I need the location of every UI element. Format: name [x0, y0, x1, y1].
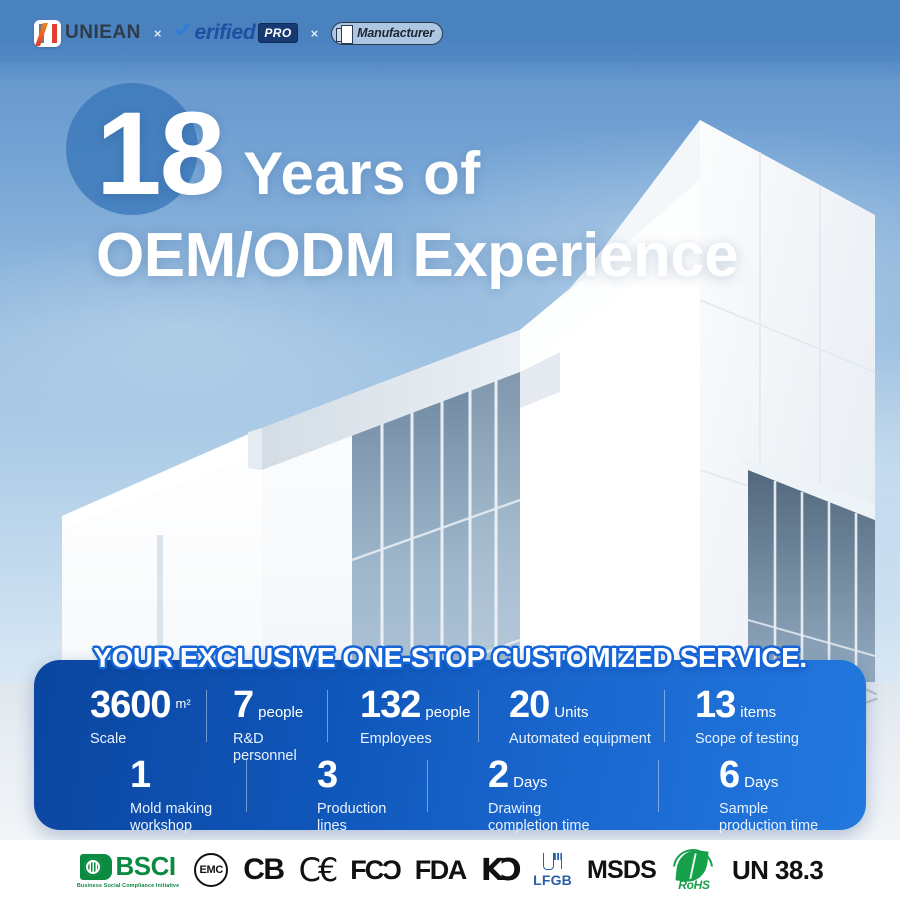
stat-value-line: 132people: [360, 686, 470, 724]
stat-cell: 20UnitsAutomated equipment: [479, 686, 664, 748]
stat-value: 7: [233, 686, 253, 724]
stat-value-line: 13items: [695, 686, 776, 724]
stat-value-line: 3: [317, 756, 337, 794]
manufacturer-badge[interactable]: Manufacturer: [331, 22, 443, 45]
stat-caption: Production lines: [317, 801, 386, 835]
stat-unit: m²: [176, 697, 191, 710]
cert-cb-label: CB: [243, 853, 283, 887]
stat-cell: 3600m²Scale: [34, 686, 206, 748]
stat-cell: 2DaysDrawing completion time: [428, 756, 658, 835]
stat-value: 20: [509, 686, 549, 724]
rohs-leaf-icon: RoHS: [671, 849, 717, 891]
stat-caption: Scope of testing: [695, 731, 799, 748]
brand-logo-unieAn[interactable]: UNIEAN: [34, 20, 141, 47]
pro-badge-label: PRO: [258, 23, 297, 43]
hero-line-2: OEM/ODM Experience: [96, 223, 856, 289]
stat-value: 2: [488, 756, 508, 794]
cert-rohs: RoHS: [671, 849, 717, 891]
stat-cell: 6DaysSample production time: [659, 756, 859, 835]
cert-msds: MSDS: [587, 856, 656, 885]
stat-value-line: 1: [130, 756, 150, 794]
cert-un383: UN 38.3: [732, 855, 823, 886]
stat-value-line: 2Days: [488, 756, 547, 794]
cert-bsci: BSCI Business Social Compliance Initiati…: [77, 851, 179, 889]
stat-caption: Scale: [90, 731, 126, 748]
stat-unit: people: [258, 705, 303, 720]
stat-caption: Employees: [360, 731, 432, 748]
stat-caption: Drawing completion time: [488, 801, 590, 835]
stat-value: 132: [360, 686, 420, 724]
cert-kc-label: KƆ: [481, 853, 518, 888]
hero-line-1: 18 Years of: [96, 97, 856, 213]
stat-cell: 7peopleR&D personnel: [207, 686, 327, 765]
stat-cell: 1Mold making workshop: [34, 756, 246, 835]
cert-bsci-label: BSCI: [115, 851, 175, 882]
stat-caption: Automated equipment: [509, 731, 651, 748]
top-band-fade: [0, 56, 900, 82]
stats-panel: 3600m²Scale7peopleR&D personnel132people…: [34, 660, 866, 830]
unieAn-logo-icon: [34, 20, 61, 47]
stat-unit: people: [425, 705, 470, 720]
panel-headline: YOUR EXCLUSIVE ONE-STOP CUSTOMIZED SERVI…: [0, 642, 900, 674]
stat-value-line: 20Units: [509, 686, 588, 724]
cert-ce-label: C€: [299, 851, 336, 889]
cert-un383-label: UN 38.3: [732, 855, 823, 886]
stat-value-line: 3600m²: [90, 686, 191, 724]
stat-value: 6: [719, 756, 739, 794]
cert-ce: C€: [299, 851, 336, 889]
stat-value: 1: [130, 756, 150, 794]
header-logo-row: UNIEAN × erified PRO × Manufacturer: [34, 14, 443, 52]
cert-fda: FDA: [415, 855, 466, 886]
stats-row-1: 3600m²Scale7peopleR&D personnel132people…: [34, 686, 866, 765]
verified-pro-badge[interactable]: erified PRO: [174, 21, 297, 45]
stat-unit: Units: [554, 705, 588, 720]
cert-kc: KƆ: [481, 853, 518, 888]
stat-value-line: 6Days: [719, 756, 778, 794]
hero-number: 18: [96, 97, 223, 213]
cert-rohs-label: RoHS: [671, 878, 717, 892]
stat-value: 3600: [90, 686, 171, 724]
cert-msds-label: MSDS: [587, 856, 656, 885]
stat-unit: Days: [744, 775, 778, 790]
stat-cell: 3Production lines: [247, 756, 427, 835]
manufacturer-label: Manufacturer: [357, 26, 434, 40]
cert-fcc: FCƆ: [350, 855, 400, 886]
cert-bsci-sub: Business Social Compliance Initiative: [77, 883, 179, 889]
stats-row-2: 1Mold making workshop3Production lines2D…: [34, 756, 866, 835]
certification-strip: BSCI Business Social Compliance Initiati…: [0, 840, 900, 900]
cert-cb: CB: [243, 853, 283, 887]
cert-fcc-label: FCƆ: [350, 855, 400, 886]
check-icon: [174, 25, 191, 42]
stat-unit: items: [740, 705, 776, 720]
stat-caption: Sample production time: [719, 801, 818, 835]
verified-label: erified: [194, 21, 255, 45]
factory-icon: [336, 25, 353, 42]
stat-caption: Mold making workshop: [130, 801, 212, 835]
stat-cell: 132peopleEmployees: [328, 686, 478, 748]
stat-value: 3: [317, 756, 337, 794]
stat-value-line: 7people: [233, 686, 303, 724]
cert-emc-label: EMC: [194, 853, 228, 887]
logo-separator-1: ×: [154, 26, 162, 41]
stat-value: 13: [695, 686, 735, 724]
cert-lfgb-label: LFGB: [533, 872, 572, 888]
stat-cell: 13itemsScope of testing: [665, 686, 825, 748]
hero-years-of: Years of: [243, 144, 480, 204]
cert-lfgb: LFGB: [533, 852, 572, 888]
hero-title: 18 Years of OEM/ODM Experience: [96, 97, 856, 288]
logo-separator-2: ×: [311, 26, 319, 41]
cert-emc: EMC: [194, 853, 228, 887]
cert-fda-label: FDA: [415, 855, 466, 886]
glass-fork-icon: [542, 852, 564, 872]
brand-name: UNIEAN: [65, 22, 141, 44]
bsci-globe-hand-icon: [80, 854, 112, 880]
stat-unit: Days: [513, 775, 547, 790]
promo-banner: UNIEAN × erified PRO × Manufacturer 18 Y…: [0, 0, 900, 900]
